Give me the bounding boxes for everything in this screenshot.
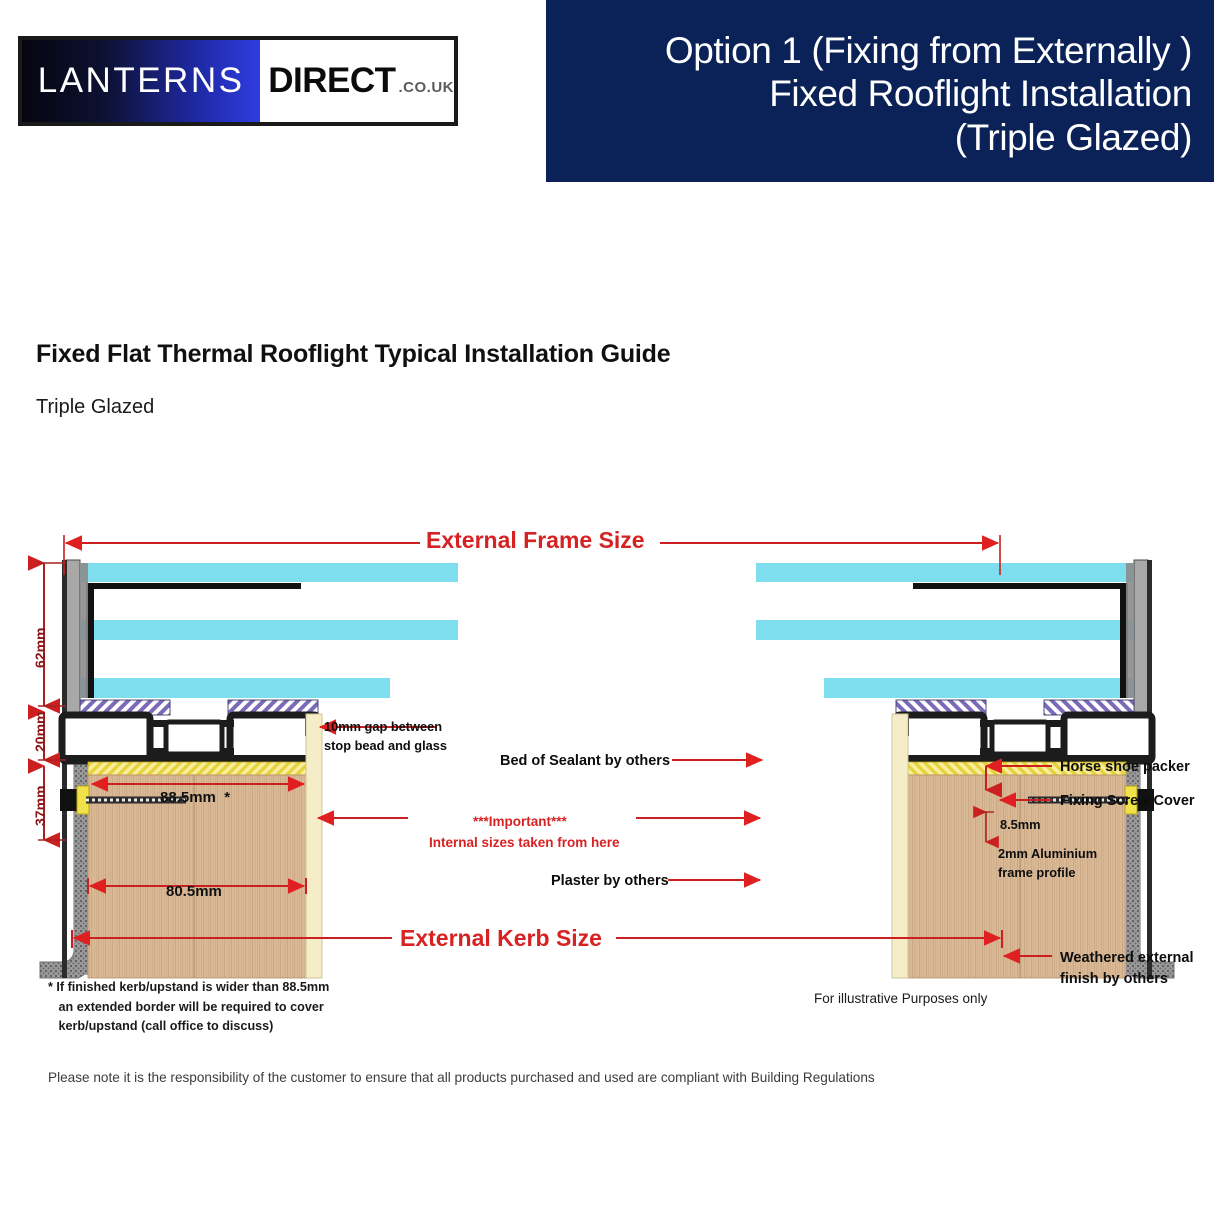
dimension-62mm: 62mm	[32, 628, 48, 668]
kerb-footnote: * If finished kerb/upstand is wider than…	[48, 978, 329, 1037]
important-heading: ***Important***	[473, 812, 567, 831]
dimension-88-5mm: 88.5mm *	[160, 789, 230, 806]
aluminium-frame-profile	[62, 715, 318, 762]
important-note: Internal sizes taken from here	[429, 833, 620, 852]
callout-horse-shoe-packer: Horse shoe packer	[1060, 757, 1190, 778]
dimension-8-5mm: 8.5mm	[1000, 816, 1041, 835]
left-section-assembly	[40, 560, 458, 978]
footer-disclaimer: Please note it is the responsibility of …	[48, 1070, 875, 1085]
dimension-80-5mm: 80.5mm	[166, 883, 222, 900]
callout-fixing-screw-cover: Fixing Screw Cover	[1060, 791, 1195, 812]
dimension-20mm: 20mm	[32, 712, 48, 752]
page-root: LANTERNS DIRECT .CO.UK Option 1 (Fixing …	[0, 0, 1214, 1214]
dimension-37mm: 37mm	[32, 786, 48, 826]
illustrative-purposes-note: For illustrative Purposes only	[814, 991, 987, 1006]
callout-bed-of-sealant: Bed of Sealant by others	[500, 751, 670, 772]
external-kerb-size-label: External Kerb Size	[400, 925, 602, 952]
callout-stop-bead-gap: 10mm gap between stop bead and glass	[324, 718, 447, 755]
callout-weathered-external-finish: Weathered external finish by others	[1060, 948, 1194, 989]
callout-plaster-by-others: Plaster by others	[551, 871, 669, 892]
callout-aluminium-frame-profile: 2mm Aluminium frame profile	[998, 845, 1097, 882]
external-frame-size-label: External Frame Size	[426, 527, 645, 554]
